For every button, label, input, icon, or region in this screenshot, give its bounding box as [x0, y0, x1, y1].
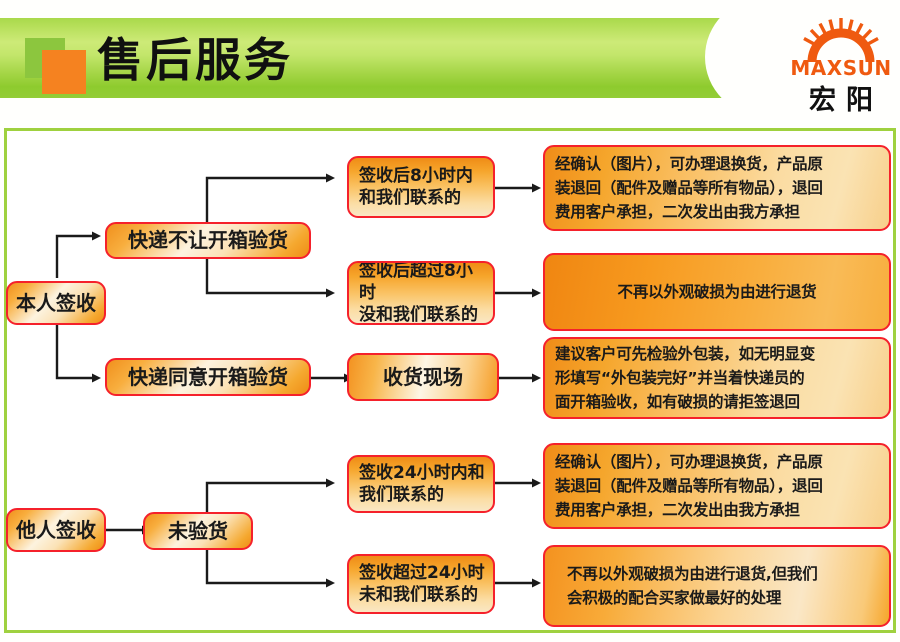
- node-courier-allow-inspection[interactable]: 快递同意开箱验货: [105, 358, 311, 396]
- note-result-over-24h-text: 不再以外观破损为由进行退货,但我们 会积极的配合买家做最好的处理: [567, 562, 881, 610]
- note-line-2: 装退回（配件及赠品等所有物品），退回: [555, 477, 823, 495]
- note-line-1: 经确认（图片），可办理退换货，产品原: [555, 453, 823, 471]
- chip-case-over-8h-label: 签收后超过8小时 没和我们联系的: [359, 261, 485, 325]
- logo-wordmark: MAXSUN: [786, 56, 896, 80]
- chip-case-over-24h-label: 签收超过24小时 未和我们联系的: [359, 562, 485, 606]
- chip-case-within-24h[interactable]: 签收24小时内和 我们联系的: [347, 455, 495, 513]
- note-line-3: 面开箱验收，如有破损的请拒签退回: [555, 393, 800, 411]
- chip-case-over-8h[interactable]: 签收后超过8小时 没和我们联系的: [347, 261, 495, 325]
- node-other-signed[interactable]: 他人签收: [6, 508, 106, 552]
- node-receiving-scene[interactable]: 收货现场: [347, 353, 499, 401]
- chip-case-within-8h-label: 签收后8小时内 和我们联系的: [359, 165, 485, 209]
- note-line-1: 不再以外观破损为由进行退货,但我们: [567, 565, 818, 583]
- chip-line-2: 未和我们联系的: [359, 585, 478, 605]
- note-result-within-24h[interactable]: 经确认（图片），可办理退换货，产品原 装退回（配件及赠品等所有物品），退回 费用…: [543, 443, 891, 529]
- node-courier-allow-inspection-label: 快递同意开箱验货: [113, 365, 303, 390]
- node-courier-refuse-inspection[interactable]: 快递不让开箱验货: [105, 222, 311, 259]
- note-result-over-8h-text: 不再以外观破损为由进行退货: [551, 280, 883, 304]
- note-line-2: 会积极的配合买家做最好的处理: [567, 589, 781, 607]
- logo-chinese-name: 宏阳: [786, 78, 896, 117]
- slide-root: 售后服务 MAXSUN 宏阳: [0, 0, 900, 642]
- note-result-inspection-advice-text: 建议客户可先检验外包装，如无明显变 形填写“外包装完好”并当着快递员的 面开箱验…: [555, 342, 881, 414]
- brand-logo: MAXSUN 宏阳: [786, 18, 896, 110]
- node-other-signed-label: 他人签收: [14, 518, 98, 543]
- node-self-signed[interactable]: 本人签收: [6, 281, 106, 325]
- orange-square-icon: [42, 50, 86, 94]
- page-title: 售后服务: [97, 34, 293, 86]
- note-result-inspection-advice[interactable]: 建议客户可先检验外包装，如无明显变 形填写“外包装完好”并当着快递员的 面开箱验…: [543, 337, 891, 419]
- node-courier-refuse-inspection-label: 快递不让开箱验货: [113, 228, 303, 253]
- note-line-1: 建议客户可先检验外包装，如无明显变: [555, 345, 815, 363]
- node-receiving-scene-label: 收货现场: [355, 365, 491, 390]
- chip-case-over-24h[interactable]: 签收超过24小时 未和我们联系的: [347, 554, 495, 614]
- note-result-over-8h[interactable]: 不再以外观破损为由进行退货: [543, 253, 891, 331]
- chip-line-2: 我们联系的: [359, 485, 444, 505]
- chip-case-within-24h-label: 签收24小时内和 我们联系的: [359, 462, 485, 506]
- note-line-3: 费用客户承担，二次发出由我方承担: [555, 203, 800, 221]
- node-not-inspected-label: 未验货: [151, 519, 245, 544]
- note-result-within-24h-text: 经确认（图片），可办理退换货，产品原 装退回（配件及赠品等所有物品），退回 费用…: [555, 450, 881, 522]
- note-line-2: 装退回（配件及赠品等所有物品），退回: [555, 179, 823, 197]
- chip-case-within-8h[interactable]: 签收后8小时内 和我们联系的: [347, 156, 495, 218]
- note-line-2: 形填写“外包装完好”并当着快递员的: [555, 369, 804, 387]
- chip-line-1: 签收24小时内和: [359, 463, 485, 483]
- note-result-within-8h[interactable]: 经确认（图片），可办理退换货，产品原 装退回（配件及赠品等所有物品），退回 费用…: [543, 145, 891, 231]
- note-line-3: 费用客户承担，二次发出由我方承担: [555, 501, 800, 519]
- note-result-within-8h-text: 经确认（图片），可办理退换货，产品原 装退回（配件及赠品等所有物品），退回 费用…: [555, 152, 881, 224]
- chip-line-1: 签收超过24小时: [359, 563, 485, 583]
- header-banner: 售后服务: [0, 10, 900, 105]
- node-self-signed-label: 本人签收: [14, 291, 98, 316]
- note-line-1: 经确认（图片），可办理退换货，产品原: [555, 155, 823, 173]
- chip-line-1: 签收后超过8小时: [359, 261, 473, 303]
- chip-line-1: 签收后8小时内: [359, 166, 473, 186]
- note-result-over-24h[interactable]: 不再以外观破损为由进行退货,但我们 会积极的配合买家做最好的处理: [543, 545, 891, 627]
- chip-line-2: 没和我们联系的: [359, 305, 478, 325]
- node-not-inspected[interactable]: 未验货: [143, 512, 253, 550]
- chip-line-2: 和我们联系的: [359, 188, 461, 208]
